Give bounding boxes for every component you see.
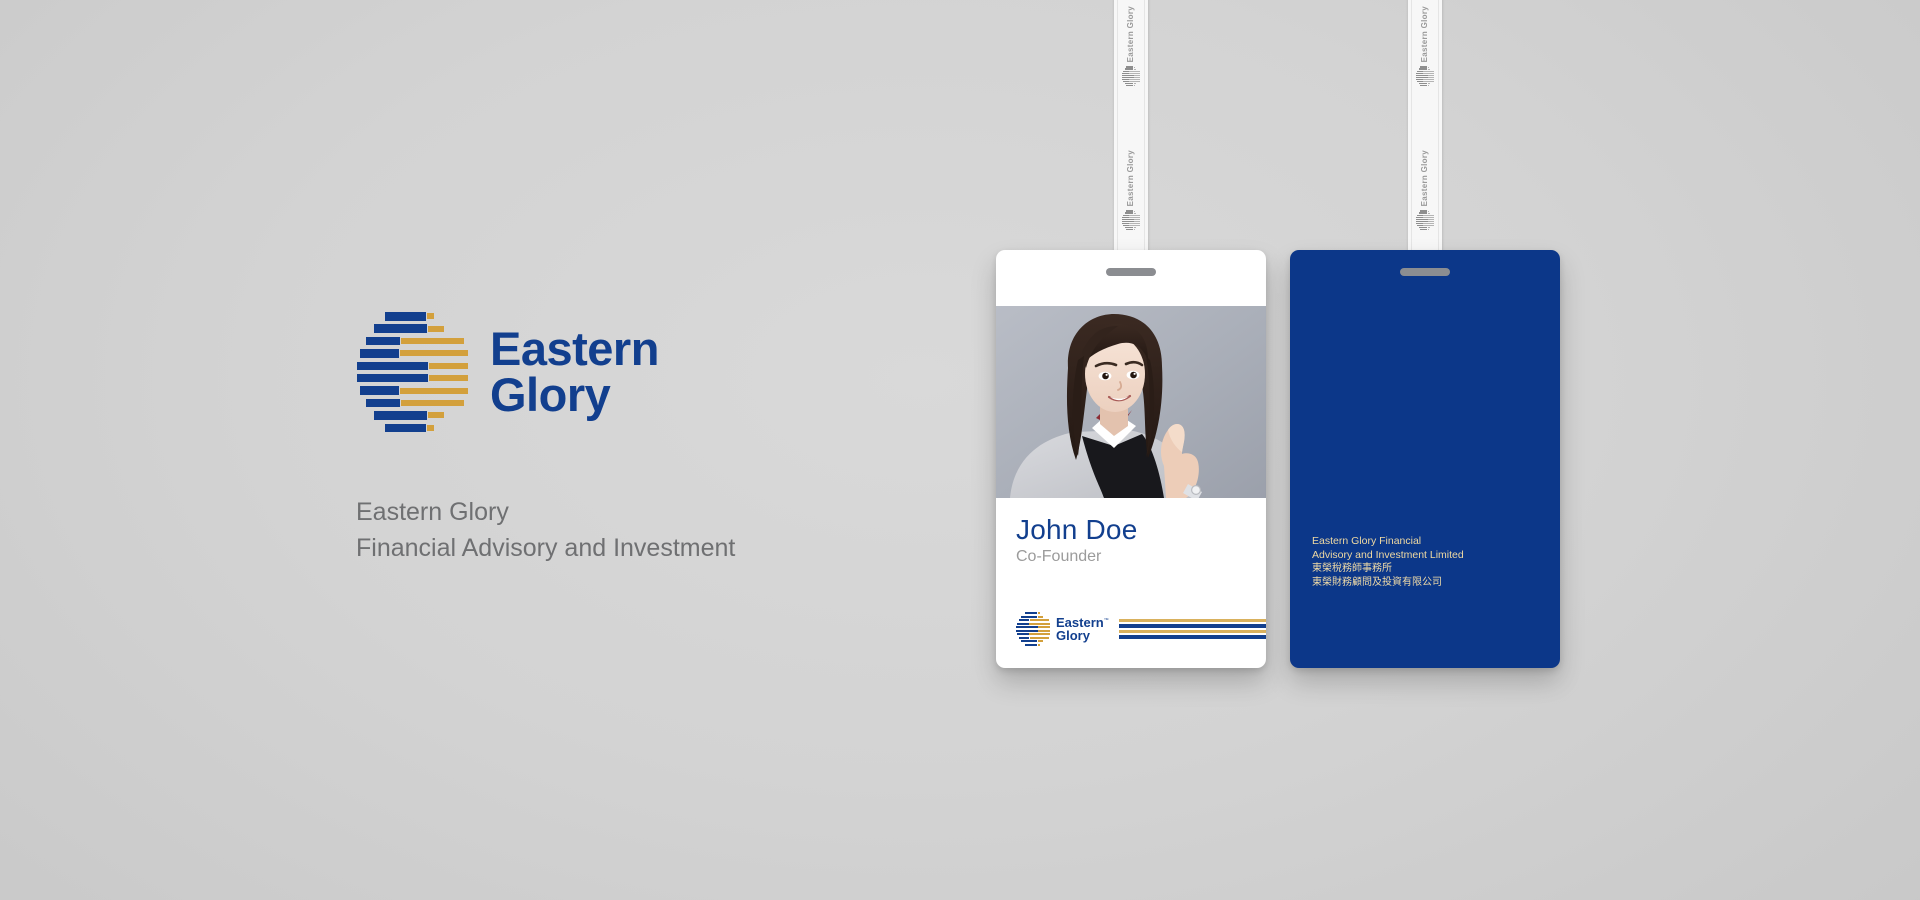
globe-bar-gold	[1038, 644, 1040, 646]
globe-bar-blue	[1126, 85, 1133, 87]
globe-bar-gold	[1428, 77, 1435, 78]
globe-bar-blue	[1019, 619, 1029, 621]
portrait-illustration	[996, 306, 1266, 498]
globe-bar-blue	[1017, 623, 1029, 625]
badge-stripe-bars	[1119, 619, 1266, 639]
lanyard-text: Eastern Glory	[1420, 150, 1430, 206]
lanyard-globe-icon	[1122, 66, 1141, 86]
lanyard-text: Eastern Glory	[1420, 6, 1430, 62]
wordmark-line-1: Eastern	[490, 326, 659, 372]
globe-bar-gold	[1038, 640, 1043, 642]
employee-name-block: John Doe Co-Founder	[1016, 516, 1137, 565]
globe-bar-blue	[1126, 229, 1133, 231]
globe-bar-gold	[1129, 79, 1140, 80]
globe-bar-gold	[400, 350, 468, 356]
lanyard-strap-front: Eastern Glory Eastern Glory	[1114, 0, 1148, 260]
company-zh-line-2: 東榮財務顧問及投資有限公司	[1312, 576, 1542, 590]
globe-bar-gold	[427, 313, 434, 319]
globe-bar-gold	[428, 412, 445, 418]
employee-photo	[996, 306, 1266, 498]
globe-bar-gold	[1134, 67, 1135, 68]
globe-bar-gold	[1134, 227, 1137, 228]
eastern-glory-globe-icon	[356, 312, 468, 432]
globe-bar-blue	[366, 337, 400, 346]
globe-bar-gold	[1134, 69, 1137, 70]
trademark-icon: ™	[1104, 617, 1109, 623]
globe-bar-gold	[429, 375, 468, 381]
company-zh-line-1: 東榮稅務師事務所	[1312, 562, 1542, 576]
globe-bar-gold	[428, 326, 445, 332]
tagline-line-2: Financial Advisory and Investment	[356, 530, 976, 566]
company-name-block: Eastern Glory Financial Advisory and Inv…	[1312, 535, 1542, 590]
lanyard-globe-icon	[1416, 210, 1435, 230]
badge-wordmark-line-1: Eastern™	[1056, 616, 1109, 629]
lanyard-mark-bottom: Eastern Glory	[1408, 150, 1442, 230]
globe-bar-blue	[374, 411, 427, 420]
globe-bar-blue	[357, 362, 428, 371]
globe-bar-blue	[360, 386, 399, 395]
globe-bar-gold	[429, 363, 468, 369]
globe-bar-gold	[1038, 616, 1043, 618]
lanyard-strap-back: Eastern Glory Eastern Glory	[1408, 0, 1442, 260]
brand-wordmark: Eastern Glory	[490, 326, 659, 417]
globe-bar-blue	[1025, 612, 1038, 614]
globe-bar-gold	[1423, 215, 1434, 216]
lanyard-text: Eastern Glory	[1126, 150, 1136, 206]
globe-bar-blue	[1420, 229, 1427, 231]
globe-bar-gold	[1129, 223, 1140, 224]
brand-tagline: Eastern Glory Financial Advisory and Inv…	[356, 494, 976, 567]
globe-bar-gold	[1030, 619, 1049, 621]
lanyard-mark-bottom: Eastern Glory	[1114, 150, 1148, 230]
globe-bar-gold	[1134, 219, 1141, 220]
lanyard-mark-top: Eastern Glory	[1114, 6, 1148, 86]
globe-bar-blue	[1017, 633, 1029, 635]
eastern-glory-globe-icon	[1016, 612, 1050, 646]
badge-slot-back	[1400, 268, 1450, 276]
brand-block: Eastern Glory Eastern Glory Financial Ad…	[356, 312, 976, 567]
stripe-bar	[1119, 635, 1266, 639]
globe-bar-gold	[1134, 85, 1135, 86]
globe-bar-gold	[401, 338, 463, 344]
globe-bar-gold	[1038, 612, 1040, 614]
globe-bar-gold	[1134, 83, 1137, 84]
company-en-line-2: Advisory and Investment Limited	[1312, 549, 1542, 563]
employee-name: John Doe	[1016, 516, 1137, 544]
globe-bar-gold	[1134, 221, 1141, 222]
globe-bar-gold	[1423, 79, 1434, 80]
globe-bar-gold	[1134, 229, 1135, 230]
badge-slot-front	[1106, 268, 1156, 276]
globe-bar-blue	[1016, 626, 1037, 628]
globe-bar-gold	[1038, 626, 1050, 628]
canvas-background: Eastern Glory Eastern Glory Eastern Glor…	[0, 0, 1920, 900]
globe-bar-blue	[385, 424, 426, 433]
globe-bar-gold	[1030, 637, 1049, 639]
globe-bar-blue	[1021, 640, 1037, 642]
badge-footer: Eastern™ Glory	[1016, 612, 1266, 646]
lanyard-globe-icon	[1416, 66, 1435, 86]
globe-bar-blue	[385, 312, 426, 321]
globe-bar-gold	[1428, 219, 1435, 220]
id-badge-back[interactable]: Eastern Glory Financial Advisory and Inv…	[1290, 250, 1560, 668]
globe-bar-gold	[1134, 213, 1137, 214]
globe-bar-gold	[1129, 215, 1140, 216]
globe-bar-gold	[1428, 67, 1429, 68]
globe-bar-blue	[366, 399, 400, 408]
globe-bar-blue	[1420, 85, 1427, 87]
globe-bar-gold	[1428, 85, 1429, 86]
globe-bar-gold	[1129, 71, 1140, 72]
globe-bar-gold	[1428, 221, 1435, 222]
id-badge-front[interactable]: John Doe Co-Founder Eastern™ Glory	[996, 250, 1266, 668]
globe-bar-gold	[1428, 211, 1429, 212]
globe-bar-blue	[1021, 616, 1037, 618]
logo-lockup: Eastern Glory	[356, 312, 976, 432]
globe-bar-blue	[1025, 644, 1038, 646]
globe-bar-gold	[1038, 630, 1050, 632]
globe-bar-gold	[1423, 223, 1434, 224]
globe-bar-gold	[1428, 75, 1435, 76]
globe-bar-gold	[1428, 213, 1431, 214]
globe-bar-gold	[1423, 71, 1434, 72]
globe-bar-blue	[374, 324, 427, 333]
globe-bar-gold	[1134, 75, 1141, 76]
globe-bar-blue	[360, 349, 399, 358]
globe-bar-gold	[400, 388, 468, 394]
globe-bar-gold	[401, 400, 463, 406]
globe-bar-gold	[1428, 227, 1431, 228]
globe-bar-gold	[1428, 229, 1429, 230]
globe-bar-gold	[427, 425, 434, 431]
globe-bar-blue	[357, 374, 428, 383]
globe-bar-gold	[1134, 77, 1141, 78]
globe-bar-blue	[1016, 630, 1037, 632]
globe-bar-gold	[1428, 83, 1431, 84]
globe-bar-gold	[1029, 633, 1050, 635]
globe-bar-gold	[1428, 69, 1431, 70]
lanyard-mark-top: Eastern Glory	[1408, 6, 1442, 86]
lanyard-globe-icon	[1122, 210, 1141, 230]
badge-logo-wordmark: Eastern™ Glory	[1056, 616, 1109, 643]
employee-title: Co-Founder	[1016, 549, 1137, 565]
badge-wordmark-line-2: Glory	[1056, 629, 1109, 642]
globe-bar-blue	[1019, 637, 1029, 639]
lanyard-text: Eastern Glory	[1126, 6, 1136, 62]
globe-bar-gold	[1134, 211, 1135, 212]
globe-bar-gold	[1029, 623, 1050, 625]
company-en-line-1: Eastern Glory Financial	[1312, 535, 1542, 549]
wordmark-line-2: Glory	[490, 372, 659, 418]
tagline-line-1: Eastern Glory	[356, 494, 976, 530]
